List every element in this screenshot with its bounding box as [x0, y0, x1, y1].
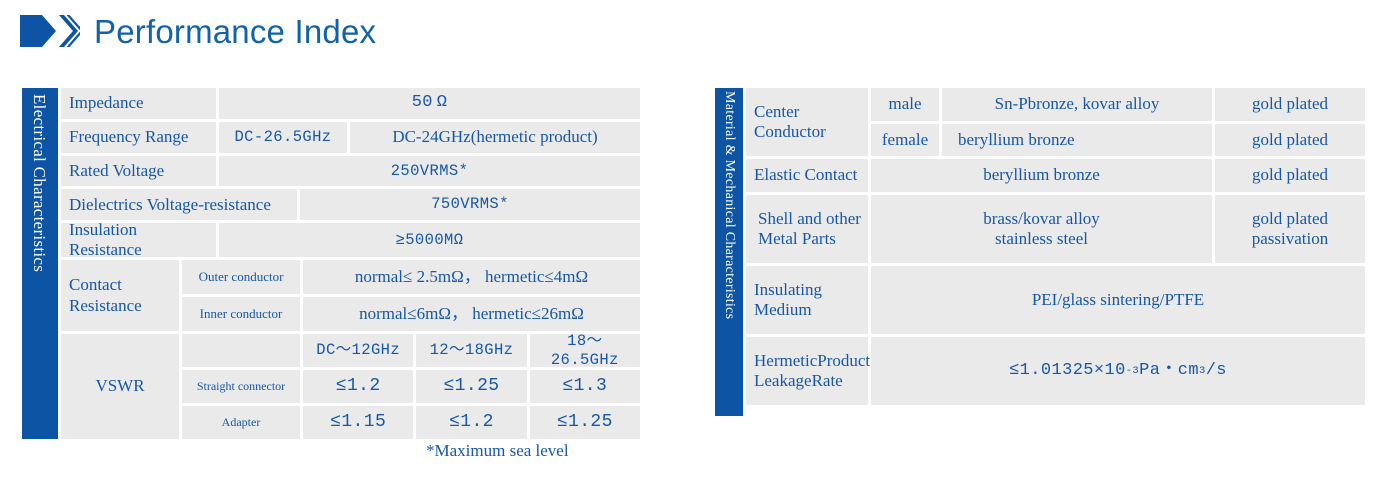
page-header: Performance Index [0, 0, 1389, 62]
adapter-value-3: ≤1.25 [530, 406, 640, 439]
hermetic-leakage-value: ≤1.01325×10-3Pa・cm3/s [871, 337, 1365, 405]
page-title: Performance Index [94, 15, 376, 48]
electrical-characteristics-table: Electrical Characteristics Impedance 50 … [22, 88, 640, 439]
table-row: Frequency Range DC-26.5GHz DC-24GHz(herm… [61, 122, 640, 153]
adapter-value-1: ≤1.15 [303, 406, 413, 439]
left-table-footnote: *Maximum sea level [426, 441, 569, 461]
adapter-label: Adapter [182, 406, 300, 439]
inner-conductor-value: normal≤6mΩ， hermetic≤26mΩ [303, 297, 640, 331]
outer-conductor-label: Outer conductor [182, 260, 300, 294]
dielectrics-label: Dielectrics Voltage-resistance [61, 189, 297, 220]
dielectrics-value: 750VRMS* [300, 189, 640, 220]
table-row: Elastic Contact beryllium bronze gold pl… [746, 159, 1365, 192]
frequency-range-value-hermetic: DC-24GHz(hermetic product) [350, 122, 640, 153]
impedance-label: Impedance [61, 88, 216, 119]
center-conductor-female-material: beryllium bronze [942, 124, 1212, 157]
table-row: VSWR DC〜12GHz 12〜18GHz 18〜26.5GHz Straig… [61, 334, 640, 439]
insulating-medium-value: PEI/glass sintering/PTFE [871, 266, 1365, 334]
shell-label: Shell and other Metal Parts [746, 195, 868, 263]
impedance-value: 50 Ω [219, 88, 640, 119]
vswr-corner-blank [182, 334, 300, 367]
insulation-value: ≥5000MΩ [219, 223, 640, 257]
table-row: Contact Resistance Outer conductor norma… [61, 260, 640, 331]
rated-voltage-value: 250VRMS* [219, 156, 640, 187]
straight-connector-label: Straight connector [182, 370, 300, 403]
elastic-contact-material: beryllium bronze [871, 159, 1212, 192]
table-row: Rated Voltage 250VRMS* [61, 156, 640, 187]
table-row: Shell and other Metal Parts brass/kovar … [746, 195, 1365, 263]
adapter-value-2: ≤1.2 [416, 406, 526, 439]
elastic-contact-label: Elastic Contact [746, 159, 868, 192]
table-row: Insulation Resistance ≥5000MΩ [61, 223, 640, 257]
frequency-range-label: Frequency Range [61, 122, 216, 153]
hermetic-value-exponent: -3 [1126, 365, 1139, 377]
left-band: Electrical Characteristics [22, 88, 58, 439]
contact-resistance-label: Contact Resistance [61, 260, 179, 331]
hermetic-leakage-label: HermeticProduct LeakageRate [746, 337, 868, 405]
center-conductor-label: Center Conductor [746, 88, 868, 156]
table-row: HermeticProduct LeakageRate ≤1.01325×10-… [746, 337, 1365, 405]
table-row: Dielectrics Voltage-resistance 750VRMS* [61, 189, 640, 220]
right-band-label: Material & Mechanical Characteristics [721, 91, 737, 319]
hermetic-value-exponent-2: 3 [1199, 365, 1206, 377]
center-conductor-male-label: male [871, 88, 939, 121]
hermetic-value-mid: Pa・cm [1139, 361, 1199, 381]
insulation-label: Insulation Resistance [61, 223, 216, 257]
inner-conductor-label: Inner conductor [182, 297, 300, 331]
center-conductor-male-finish: gold plated [1215, 88, 1365, 121]
vswr-band-1: DC〜12GHz [303, 334, 413, 367]
material-mechanical-characteristics-table: Material & Mechanical Characteristics Ce… [715, 88, 1365, 416]
table-row: Center Conductor male Sn-Pbronze, kovar … [746, 88, 1365, 156]
frequency-range-value-standard: DC-26.5GHz [219, 122, 347, 153]
insulating-medium-label: Insulating Medium [746, 266, 868, 334]
outer-conductor-value: normal≤ 2.5mΩ， hermetic≤4mΩ [303, 260, 640, 294]
left-band-label: Electrical Characteristics [29, 94, 49, 272]
vswr-label: VSWR [61, 334, 179, 439]
shell-material: brass/kovar alloy stainless steel [871, 195, 1212, 263]
straight-connector-value-1: ≤1.2 [303, 370, 413, 403]
table-row: Impedance 50 Ω [61, 88, 640, 119]
vswr-band-2: 12〜18GHz [416, 334, 526, 367]
elastic-contact-finish: gold plated [1215, 159, 1365, 192]
center-conductor-male-material: Sn-Pbronze, kovar alloy [942, 88, 1212, 121]
vswr-band-3: 18〜26.5GHz [530, 334, 640, 367]
center-conductor-female-label: female [871, 124, 939, 157]
shell-finish: gold plated passivation [1215, 195, 1365, 263]
right-band: Material & Mechanical Characteristics [715, 88, 743, 416]
hermetic-value-prefix: ≤1.01325×10 [1009, 361, 1126, 381]
straight-connector-value-2: ≤1.25 [416, 370, 526, 403]
straight-connector-value-3: ≤1.3 [530, 370, 640, 403]
double-chevron-logo-icon [18, 14, 80, 48]
hermetic-value-suffix: /s [1206, 361, 1227, 381]
table-row: Insulating Medium PEI/glass sintering/PT… [746, 266, 1365, 334]
center-conductor-female-finish: gold plated [1215, 124, 1365, 157]
rated-voltage-label: Rated Voltage [61, 156, 216, 187]
